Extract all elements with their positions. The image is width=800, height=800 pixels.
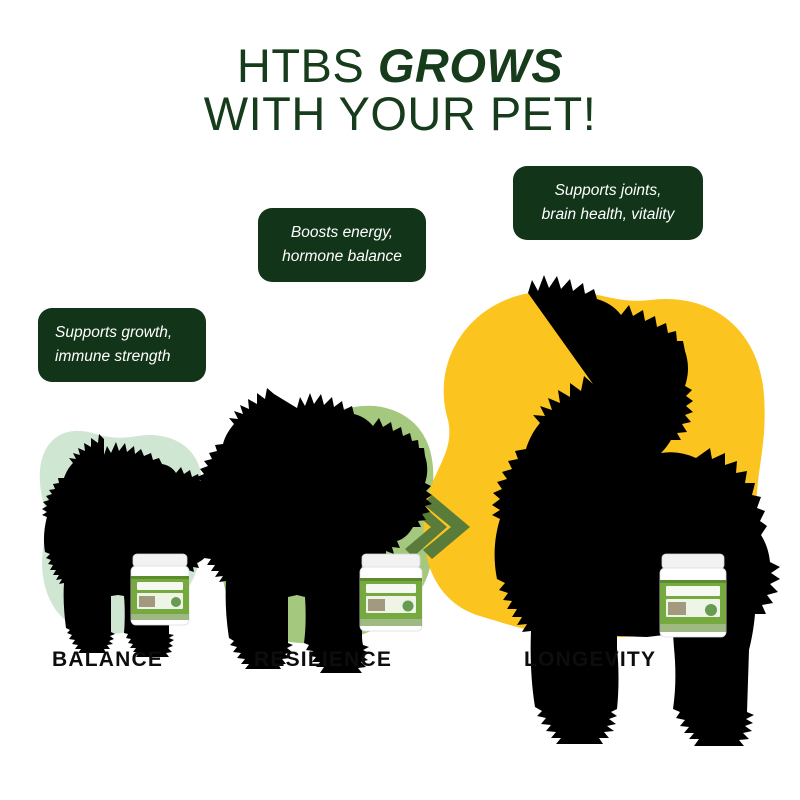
- jar-artwork-3: [654, 552, 732, 640]
- callout-supports-joints: Supports joints, brain health, vitality: [513, 166, 703, 240]
- callout-boosts-energy: Boosts energy, hormone balance: [258, 208, 426, 282]
- callout-3-line-1: Supports joints,: [530, 179, 686, 203]
- jar-artwork-1: [127, 552, 193, 628]
- callout-2-line-2: hormone balance: [275, 245, 409, 269]
- product-jar-balance: [127, 552, 193, 628]
- callout-supports-growth: Supports growth, immune strength: [38, 308, 206, 382]
- infographic-poster: HTBS GROWS WITH YOUR PET!: [0, 0, 800, 800]
- stage-label-balance: BALANCE: [52, 648, 163, 672]
- product-jar-resilience: [355, 552, 427, 634]
- jar-artwork-2: [355, 552, 427, 634]
- callout-1-line-2: immune strength: [55, 345, 189, 369]
- artwork-stage: [0, 0, 800, 800]
- stage-label-resilience: RESILIENCE: [254, 648, 392, 672]
- stage-label-longevity: LONGEVITY: [524, 648, 656, 672]
- stage-artwork-svg: [0, 0, 800, 800]
- callout-2-line-1: Boosts energy,: [275, 221, 409, 245]
- callout-1-line-1: Supports growth,: [55, 321, 189, 345]
- callout-3-line-2: brain health, vitality: [530, 203, 686, 227]
- product-jar-longevity: [654, 552, 732, 640]
